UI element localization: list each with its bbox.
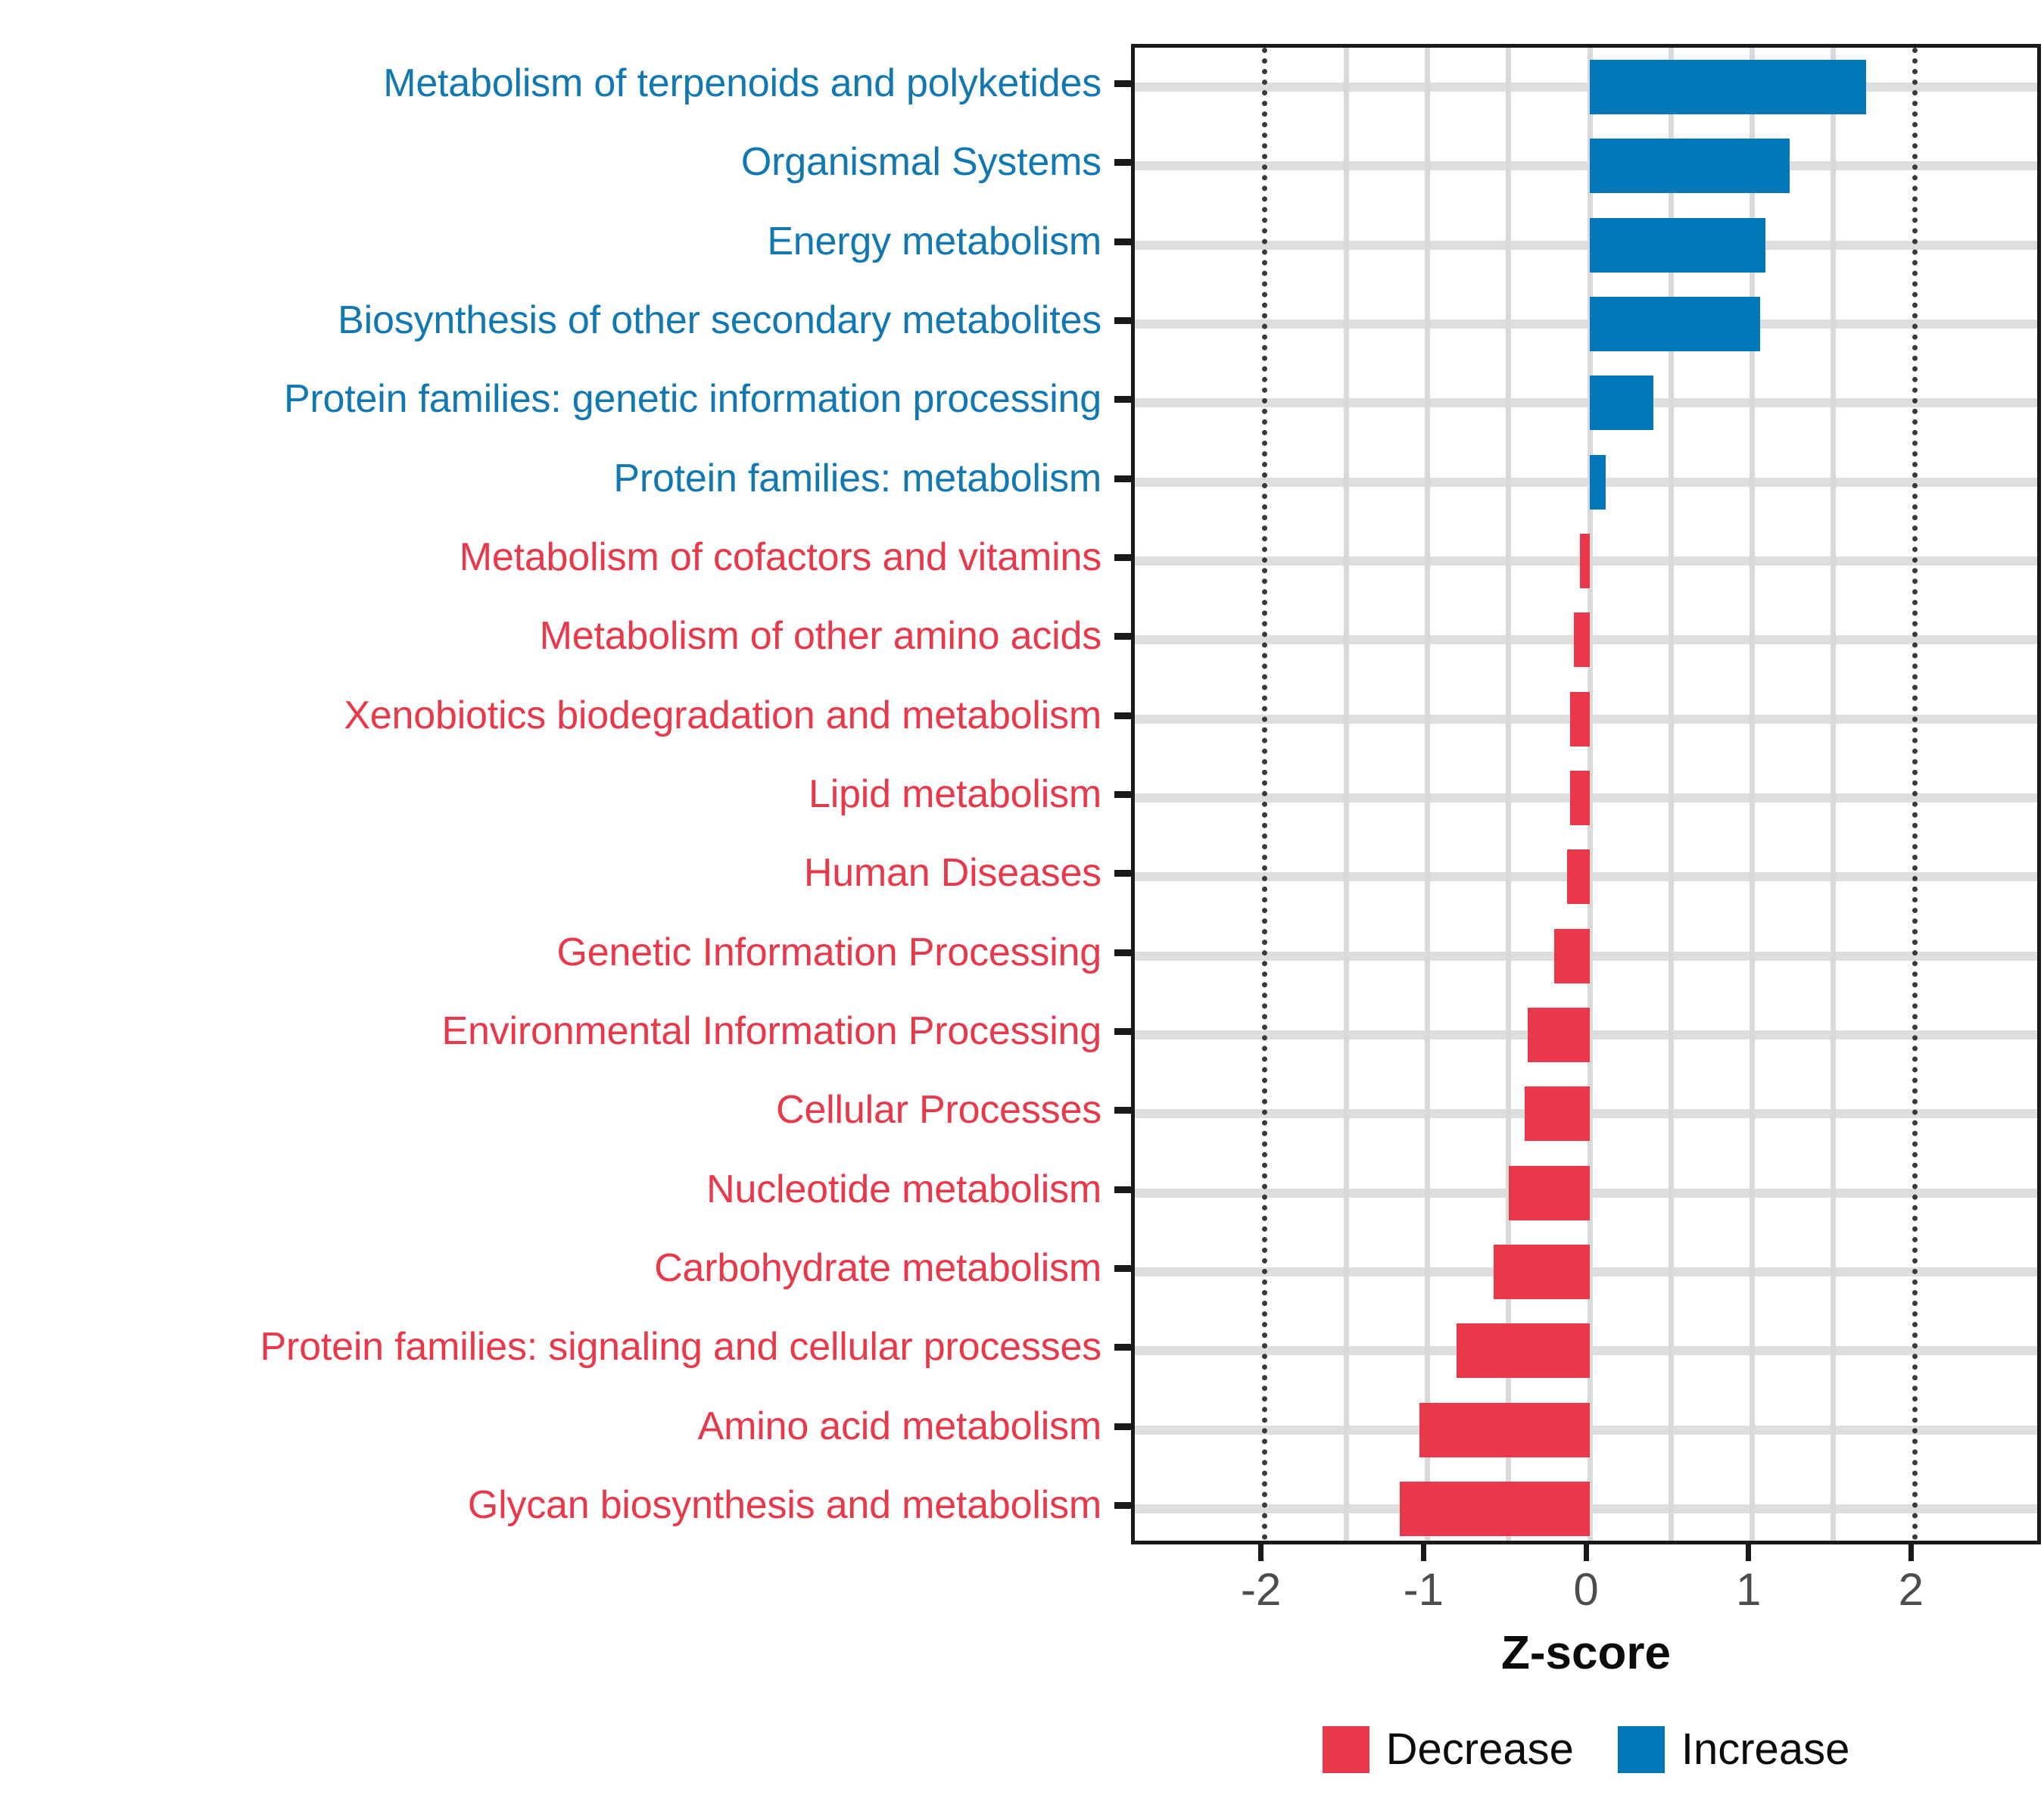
x-axis-tick-mark xyxy=(1258,1544,1263,1561)
y-axis-tick-mark xyxy=(1114,1028,1131,1035)
y-axis-tick-mark xyxy=(1114,712,1131,719)
y-axis-tick-mark xyxy=(1114,317,1131,324)
x-axis-tick-label: -2 xyxy=(1208,1566,1314,1614)
y-axis-tick-mark xyxy=(1114,1423,1131,1430)
y-axis-tick-mark xyxy=(1114,791,1131,798)
legend-item-decrease[interactable]: Decrease xyxy=(1323,1726,1574,1773)
bar[interactable] xyxy=(1494,1245,1590,1299)
horizontal-gridline xyxy=(1135,319,2037,329)
y-axis-tick-mark xyxy=(1114,554,1131,561)
y-axis-category-label: Genetic Information Processing xyxy=(0,933,1101,972)
horizontal-gridline xyxy=(1135,478,2037,487)
x-axis-tick-label: 1 xyxy=(1696,1566,1802,1614)
y-axis-category-label: Metabolism of cofactors and vitamins xyxy=(0,538,1101,577)
y-axis-category-label: Protein families: genetic information pr… xyxy=(0,379,1101,419)
vertical-gridline xyxy=(1344,48,1349,1541)
bar[interactable] xyxy=(1590,376,1653,430)
y-axis-tick-mark xyxy=(1114,949,1131,956)
y-axis-tick-mark xyxy=(1114,1186,1131,1193)
y-axis-category-label: Carbohydrate metabolism xyxy=(0,1248,1101,1288)
y-axis-tick-mark xyxy=(1114,475,1131,482)
y-axis-tick-mark xyxy=(1114,238,1131,245)
vertical-gridline xyxy=(1425,48,1430,1541)
legend-item-increase[interactable]: Increase xyxy=(1618,1726,1849,1773)
y-axis-category-label: Cellular Processes xyxy=(0,1090,1101,1130)
reference-line xyxy=(1912,48,1918,1541)
y-axis-tick-mark xyxy=(1114,396,1131,403)
horizontal-gridline xyxy=(1135,83,2037,92)
legend: Decrease Increase xyxy=(1131,1726,2041,1773)
legend-label-increase: Increase xyxy=(1681,1726,1849,1773)
y-axis-tick-mark xyxy=(1114,633,1131,640)
bar[interactable] xyxy=(1580,534,1590,588)
y-axis-category-label: Lipid metabolism xyxy=(0,774,1101,814)
bar[interactable] xyxy=(1400,1482,1590,1536)
y-axis-tick-mark xyxy=(1114,159,1131,166)
y-axis-tick-mark xyxy=(1114,870,1131,877)
bar[interactable] xyxy=(1590,60,1866,114)
legend-label-decrease: Decrease xyxy=(1386,1726,1574,1773)
horizontal-gridline xyxy=(1135,161,2037,170)
x-axis-tick-mark xyxy=(1746,1544,1751,1561)
y-axis-category-label: Protein families: signaling and cellular… xyxy=(0,1327,1101,1367)
y-axis-label-column: Metabolism of terpenoids and polyketides… xyxy=(0,44,1131,1544)
plot-panel xyxy=(1131,44,2041,1544)
y-axis-category-label: Energy metabolism xyxy=(0,222,1101,261)
y-axis-category-label: Xenobiotics biodegradation and metabolis… xyxy=(0,696,1101,735)
y-axis-category-label: Biosynthesis of other secondary metaboli… xyxy=(0,301,1101,340)
bar[interactable] xyxy=(1590,139,1790,193)
y-axis-category-label: Protein families: metabolism xyxy=(0,459,1101,498)
x-axis-tick-mark xyxy=(1908,1544,1914,1561)
horizontal-gridline xyxy=(1135,398,2037,407)
plot-area xyxy=(1135,48,2037,1541)
y-axis-category-label: Human Diseases xyxy=(0,853,1101,893)
bar[interactable] xyxy=(1570,692,1590,746)
bar[interactable] xyxy=(1590,455,1606,510)
y-axis-category-label: Metabolism of terpenoids and polyketides xyxy=(0,64,1101,103)
y-axis-tick-mark xyxy=(1114,80,1131,87)
legend-swatch-decrease-icon xyxy=(1323,1726,1369,1773)
y-axis-tick-mark xyxy=(1114,1502,1131,1509)
bar[interactable] xyxy=(1570,771,1590,825)
x-axis-tick-label: 0 xyxy=(1533,1566,1639,1614)
y-axis-category-label: Environmental Information Processing xyxy=(0,1011,1101,1051)
bar[interactable] xyxy=(1509,1166,1590,1220)
bar[interactable] xyxy=(1590,218,1765,273)
vertical-gridline xyxy=(1831,48,1836,1541)
y-axis-category-label: Organismal Systems xyxy=(0,142,1101,182)
x-axis-tick-mark xyxy=(1584,1544,1589,1561)
x-axis-tick-mark xyxy=(1421,1544,1426,1561)
y-axis-category-label: Metabolism of other amino acids xyxy=(0,616,1101,656)
y-axis-tick-mark xyxy=(1114,1107,1131,1114)
y-axis-tick-mark xyxy=(1114,1265,1131,1272)
horizontal-gridline xyxy=(1135,241,2037,250)
bar[interactable] xyxy=(1419,1403,1590,1457)
bar[interactable] xyxy=(1574,612,1590,667)
reference-line xyxy=(1262,48,1267,1541)
vertical-gridline xyxy=(1506,48,1511,1541)
y-axis-category-label: Amino acid metabolism xyxy=(0,1407,1101,1446)
legend-swatch-increase-icon xyxy=(1618,1726,1665,1773)
bar[interactable] xyxy=(1457,1323,1590,1378)
z-score-bar-chart: Metabolism of terpenoids and polyketides… xyxy=(0,0,2044,1817)
y-axis-category-label: Nucleotide metabolism xyxy=(0,1170,1101,1209)
x-axis-title: Z-score xyxy=(1131,1626,2041,1680)
y-axis-tick-mark xyxy=(1114,1344,1131,1351)
bar[interactable] xyxy=(1528,1008,1590,1062)
bar[interactable] xyxy=(1554,929,1590,983)
bar[interactable] xyxy=(1525,1086,1590,1141)
x-axis-tick-label: 2 xyxy=(1858,1566,1964,1614)
bar[interactable] xyxy=(1567,849,1590,904)
x-axis-tick-label: -1 xyxy=(1370,1566,1476,1614)
y-axis-category-label: Glycan biosynthesis and metabolism xyxy=(0,1485,1101,1525)
bar[interactable] xyxy=(1590,297,1760,351)
